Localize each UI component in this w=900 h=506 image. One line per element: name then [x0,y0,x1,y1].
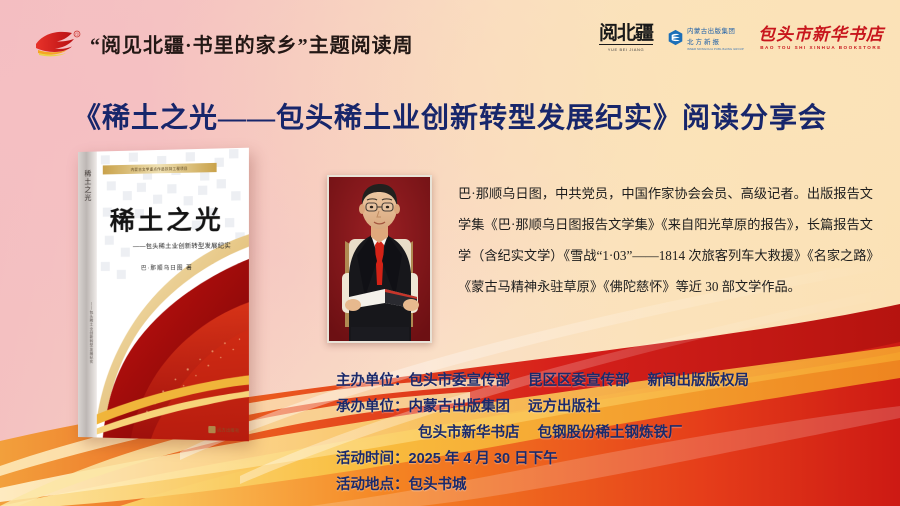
partner-logos: 阅北疆 YUE BEI JIANG 内蒙古出版集团 北方新报 INNER MON… [599,24,884,52]
page-title: 《稀土之光——包头稀土业创新转型发展纪实》阅读分享会 [0,96,900,136]
book-cover-title: 稀土之光 [110,208,243,235]
poster-root: 印 “阅见北疆·书里的家乡”主题阅读周 阅北疆 YUE BEI JIANG 内蒙… [0,0,900,506]
coorganizer-1: 内蒙古出版集团 [409,399,511,415]
campaign-title: “阅见北疆·书里的家乡”主题阅读周 [90,29,414,58]
coorganizer-row-2: 包头市新华书店包钢股份稀土钢炼铁厂 [336,420,876,446]
event-time-row: 活动时间：2025 年 4 月 30 日下午 [336,446,876,472]
coorganizer-3: 包头市新华书店 [418,425,520,441]
red-flag-emblem-icon: 印 [34,28,84,58]
author-bio-paragraph: 巴·那顺乌日图，中共党员，中国作家协会会员、高级记者。出版报告文学集《巴·那顺乌… [458,178,873,302]
event-place-value: 包头书城 [409,477,467,493]
organizer-2: 昆区区委宣传部 [528,373,630,389]
event-time-value: 2025 年 4 月 30 日下午 [409,451,558,467]
book-spine-subtitle: ——包头稀土业创新转型发展纪实 [80,302,95,364]
book-publisher-mark: 远方出版社 [208,426,240,434]
event-place-label: 活动地点： [336,477,409,493]
xinhua-logo-en: BAO TOU SHI XINHUA BOOKSTORE [760,45,882,50]
impg-logo-line1: 内蒙古出版集团 [687,25,744,35]
baotou-xinhua-bookstore-logo-icon: 包头市新华书店 BAO TOU SHI XINHUA BOOKSTORE [758,26,884,50]
portrait-illustration [329,177,430,341]
event-time-label: 活动时间： [336,451,409,467]
coorganizer-row-1: 承办单位：内蒙古出版集团远方出版社 [336,394,876,420]
impg-mark-icon [667,29,684,46]
coorganizer-2: 远方出版社 [528,399,601,415]
publisher-logo-icon [208,426,215,433]
book-spine: 稀土之光 ——包头稀土业创新转型发展纪实 [78,152,97,438]
author-portrait-photo [327,175,432,343]
book-cover-figure: 稀土之光 ——包头稀土业创新转型发展纪实 [60,150,280,450]
poster-header: 印 “阅见北疆·书里的家乡”主题阅读周 阅北疆 YUE BEI JIANG 内蒙… [0,0,900,80]
event-info-block: 主办单位：包头市委宣传部昆区区委宣传部新闻出版版权局 承办单位：内蒙古出版集团远… [336,368,876,498]
book-cover-author: 巴·那顺乌日图 著 [141,263,193,271]
publisher-name: 远方出版社 [217,427,239,434]
organizer-1: 包头市委宣传部 [409,373,511,389]
xinhua-logo-zh: 包头市新华书店 [758,26,884,43]
impg-logo-line2: 北方新报 [687,36,744,46]
impg-logo-en: INNER MONGOLIA PUBLISHING GROUP [687,48,744,51]
event-place-row: 活动地点：包头书城 [336,472,876,498]
svg-text:印: 印 [75,32,79,37]
cover-swoosh-graphic [97,148,249,442]
coorganizer-label: 承办单位： [336,399,409,415]
coorganizer-4: 包钢股份稀土钢炼铁厂 [538,425,683,441]
author-bio: 巴·那顺乌日图，中共党员，中国作家协会会员、高级记者。出版报告文学集《巴·那顺乌… [458,178,873,302]
organizer-3: 新闻出版版权局 [648,373,750,389]
yuebeijiang-logo-zh: 阅北疆 [599,24,653,45]
book-front-cover: 内蒙古文学重点作品扶持工程项目 [97,148,249,442]
organizer-label: 主办单位： [336,373,409,389]
book-cover-subtitle: ——包头稀土业创新转型发展纪实 [133,240,248,250]
yuebeijiang-logo-en: YUE BEI JIANG [608,47,644,52]
organizer-row: 主办单位：包头市委宣传部昆区区委宣传部新闻出版版权局 [336,368,876,394]
inner-mongolia-publishing-group-logo-icon: 内蒙古出版集团 北方新报 INNER MONGOLIA PUBLISHING G… [667,25,744,51]
book-3d: 稀土之光 ——包头稀土业创新转型发展纪实 [78,148,249,442]
yuebeijiang-logo-icon: 阅北疆 YUE BEI JIANG [599,24,653,52]
